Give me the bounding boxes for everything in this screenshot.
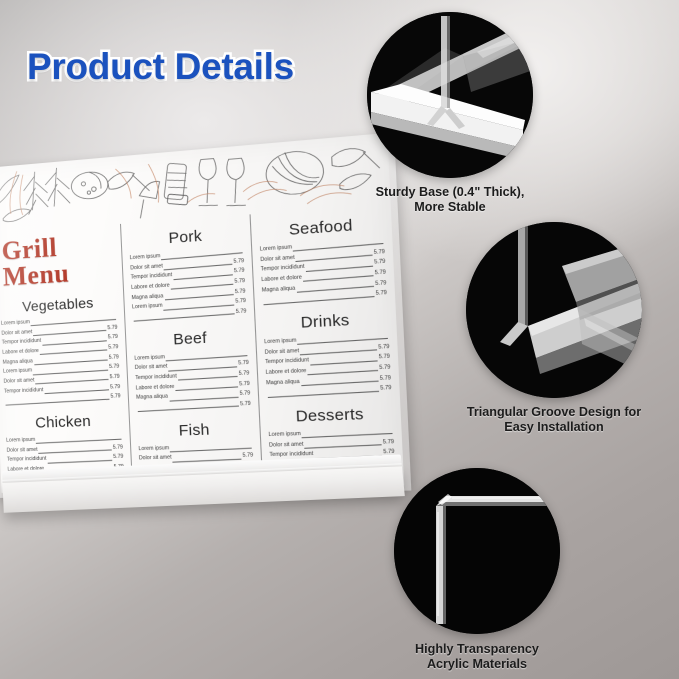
menu-item-price: 5.79 — [236, 307, 247, 318]
menu-item-price: 5.79 — [238, 359, 249, 370]
menu-item-list: Lorem ipsumDolor sit amet5.79Tempor inci… — [130, 246, 247, 323]
menu-item-price: 5.79 — [109, 363, 120, 373]
menu-item-list: Lorem ipsumDolor sit amet5.79Tempor inci… — [264, 332, 392, 399]
feature-2-caption-line1: Triangular Groove Design for — [466, 405, 642, 420]
page-title: Product Details — [27, 46, 294, 88]
menu-item-leader — [268, 390, 379, 397]
feature-1-caption-line2: More Stable — [367, 200, 533, 215]
menu-item-price: 5.79 — [108, 333, 119, 343]
menu-item-price: 5.79 — [373, 247, 385, 258]
menu-column-1: Grill Menu VegetablesLorem ipsumDolor si… — [0, 224, 132, 491]
menu-item-leader — [134, 314, 235, 322]
menu-section-title: Seafood — [259, 214, 384, 241]
menu-column-3: SeafoodLorem ipsumDolor sit amet5.79Temp… — [251, 204, 404, 486]
menu-item-list: Lorem ipsumDolor sit amet5.79Tempor inci… — [1, 313, 121, 406]
menu-item-leader — [138, 406, 239, 413]
menu-insert-card: Grill Menu VegetablesLorem ipsumDolor si… — [0, 133, 404, 493]
menu-item-price: 5.79 — [380, 384, 392, 395]
menu-item-name: Tempor incididunt — [4, 386, 44, 397]
menu-section-title: Pork — [129, 224, 244, 250]
menu-section-title: Vegetables — [0, 293, 117, 316]
menu-item-price: 5.79 — [107, 323, 118, 333]
menu-item-price: 5.79 — [110, 393, 121, 403]
menu-item-price: 5.79 — [239, 390, 250, 401]
menu-item-price: 5.79 — [375, 279, 387, 290]
menu-item-price: 5.79 — [234, 267, 245, 278]
feature-triangular-groove: Triangular Groove Design for Easy Instal… — [466, 222, 642, 436]
menu-item-price: 5.79 — [378, 342, 390, 353]
feature-3-caption-line2: Acrylic Materials — [394, 657, 560, 672]
menu-item-price: 5.79 — [374, 258, 386, 269]
menu-item-name: Lorem ipsum — [132, 302, 163, 314]
menu-item-list: Lorem ipsumDolor sit amet5.79Tempor inci… — [134, 349, 251, 414]
acrylic-transparency-photo — [394, 468, 560, 634]
menu-item-price: 5.79 — [378, 353, 390, 364]
feature-2-caption: Triangular Groove Design for Easy Instal… — [466, 405, 642, 436]
feature-sturdy-base: Sturdy Base (0.4" Thick), More Stable — [367, 12, 533, 216]
menu-item-name: Magna aliqua — [136, 393, 168, 404]
product-details-graphic: Product Details — [0, 0, 679, 679]
menu-columns: Grill Menu VegetablesLorem ipsumDolor si… — [0, 204, 404, 491]
menu-item-price: 5.79 — [113, 443, 124, 453]
menu-item-price: 5.79 — [234, 277, 245, 288]
menu-item-price: 5.79 — [374, 268, 386, 279]
menu-column-2: PorkLorem ipsumDolor sit amet5.79Tempor … — [120, 214, 263, 488]
menu-item-name: Magna aliqua — [262, 284, 296, 296]
menu-item-price: 5.79 — [110, 383, 121, 393]
menu-item-price: 5.79 — [379, 374, 391, 385]
feature-3-caption: Highly Transparency Acrylic Materials — [394, 642, 560, 673]
feature-1-caption: Sturdy Base (0.4" Thick), More Stable — [367, 185, 533, 216]
menu-section-title: Chicken — [5, 412, 122, 433]
menu-item-leader — [6, 398, 110, 405]
acrylic-sign-holder: Grill Menu VegetablesLorem ipsumDolor si… — [0, 168, 416, 568]
menu-item-price: 5.79 — [108, 343, 119, 353]
menu-item-price: 5.79 — [239, 379, 250, 390]
menu-item-price: 5.79 — [235, 297, 246, 308]
menu-section-title: Beef — [133, 327, 248, 350]
menu-item-price: 5.79 — [383, 438, 395, 449]
menu-item-price: 5.79 — [379, 363, 391, 374]
feature-3-caption-line1: Highly Transparency — [394, 642, 560, 657]
menu-item-price: 5.79 — [240, 400, 251, 411]
feature-2-caption-line2: Easy Installation — [466, 420, 642, 435]
acrylic-panel: Grill Menu VegetablesLorem ipsumDolor si… — [0, 133, 411, 498]
feature-highly-transparency: Highly Transparency Acrylic Materials — [394, 468, 560, 673]
menu-item-price: 5.79 — [113, 453, 124, 463]
triangular-groove-photo — [466, 222, 642, 398]
menu-sections-1: VegetablesLorem ipsumDolor sit amet5.79T… — [0, 293, 125, 493]
menu-item-name: Magna aliqua — [266, 377, 300, 389]
menu-item-price: 5.79 — [238, 369, 249, 380]
menu-item-price: 5.79 — [235, 287, 246, 298]
sturdy-base-photo — [367, 12, 533, 178]
feature-1-caption-line1: Sturdy Base (0.4" Thick), — [367, 185, 533, 200]
menu-sections-2: PorkLorem ipsumDolor sit amet5.79Tempor … — [129, 224, 257, 492]
menu-sections-3: SeafoodLorem ipsumDolor sit amet5.79Temp… — [259, 214, 398, 493]
menu-section-title: Drinks — [263, 309, 389, 334]
menu-item-price: 5.79 — [375, 289, 387, 300]
menu-item-list: Lorem ipsumDolor sit amet5.79Tempor inci… — [260, 237, 388, 306]
menu-item-price: 5.79 — [109, 373, 120, 383]
menu-item-leader — [263, 296, 374, 305]
menu-section-title: Fish — [137, 419, 252, 440]
menu-section-title: Desserts — [267, 404, 393, 426]
menu-brand-title: Grill Menu — [1, 231, 115, 291]
menu-item-price: 5.79 — [108, 353, 119, 363]
